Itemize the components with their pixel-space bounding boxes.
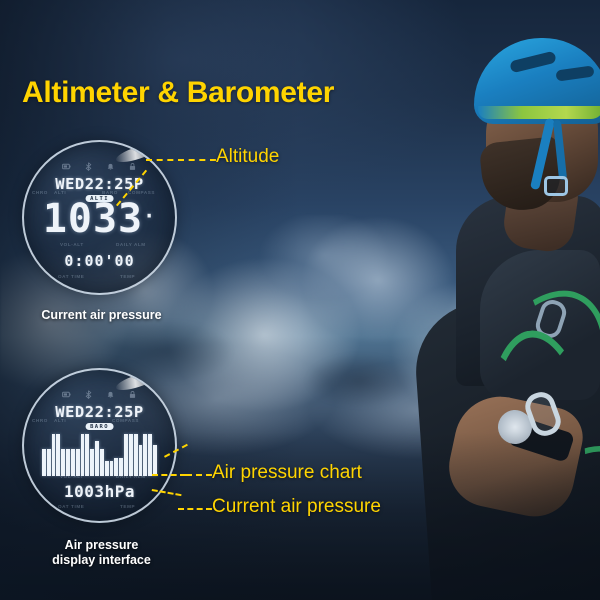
chronograph-value: 0:00'00 — [24, 252, 175, 270]
altimeter-lcd: CHRO ALTI BARO COMPASS VOL-ALT DAILY ALM… — [24, 142, 175, 293]
altitude-number: 1033 — [43, 196, 143, 242]
battery-icon — [62, 390, 71, 399]
chart-bar — [42, 449, 46, 476]
caption-air-pressure-display-interface: Air pressure display interface — [14, 538, 189, 569]
bezel-label-vol-alt: VOL-ALT — [60, 242, 84, 247]
status-icon-row — [24, 390, 175, 399]
chart-bar — [95, 441, 99, 476]
status-icon-row — [24, 162, 175, 171]
altimeter-watch[interactable]: CHRO ALTI BARO COMPASS VOL-ALT DAILY ALM… — [22, 140, 177, 295]
chart-bar — [47, 449, 51, 476]
chart-bar — [85, 434, 89, 476]
caption-line-1: Air pressure — [14, 538, 189, 553]
caption-current-air-pressure: Current air pressure — [14, 308, 189, 323]
lock-icon — [128, 390, 137, 399]
barometer-watch[interactable]: CHRO ALTI COMPASS VOL-ALT DAILY ALM OAT … — [22, 368, 177, 523]
chart-bar — [52, 434, 56, 476]
chart-bar — [143, 434, 147, 476]
current-air-pressure-value: 1003hPa — [24, 482, 175, 501]
chart-bar — [148, 434, 152, 476]
lock-icon — [128, 162, 137, 171]
chart-bar — [61, 449, 65, 476]
chart-bar — [90, 449, 94, 476]
chart-bar — [81, 434, 85, 476]
callout-air-pressure-chart: Air pressure chart — [212, 462, 362, 484]
watch-time-display: WED22:25P — [24, 403, 175, 421]
bezel-label-oat-time: OAT TIME — [58, 504, 84, 509]
caption-line-2: display interface — [14, 553, 189, 568]
air-pressure-bar-chart — [42, 432, 157, 476]
watch-time-display: WED22:25P — [24, 175, 175, 193]
page-title: Altimeter & Barometer — [22, 76, 334, 110]
bezel-label-temp: TEMP — [120, 274, 135, 279]
bezel-label-daily-alm: DAILY ALM — [116, 242, 146, 247]
callout-altitude: Altitude — [216, 146, 279, 168]
barometer-lcd: CHRO ALTI COMPASS VOL-ALT DAILY ALM OAT … — [24, 370, 175, 521]
bluetooth-icon — [84, 162, 93, 171]
chart-bar — [105, 461, 109, 476]
chart-bar — [119, 458, 123, 476]
battery-icon — [62, 162, 71, 171]
chart-bar — [129, 434, 133, 476]
callout-current-air-pressure: Current air pressure — [212, 496, 381, 518]
chart-bar — [139, 445, 143, 476]
chart-bar — [100, 449, 104, 476]
chart-bar — [134, 434, 138, 476]
alarm-icon — [106, 390, 115, 399]
mode-badge-baro: BARO — [85, 423, 114, 430]
chart-bar — [66, 449, 70, 476]
bezel-label-temp: TEMP — [120, 504, 135, 509]
bluetooth-icon — [84, 390, 93, 399]
chart-bar — [76, 449, 80, 476]
bezel-label-oat-time: OAT TIME — [58, 274, 84, 279]
chart-bar — [110, 461, 114, 476]
chart-bar — [56, 434, 60, 476]
chart-bar — [114, 458, 118, 476]
chart-bar — [71, 449, 75, 476]
altitude-value: 1033. — [24, 199, 175, 239]
alarm-icon — [106, 162, 115, 171]
altitude-decimal-dot: . — [143, 199, 156, 223]
promo-graphic: Altimeter & Barometer CHRO ALTI BARO COM… — [0, 0, 600, 600]
chart-bar — [124, 434, 128, 476]
chart-bar — [153, 445, 157, 476]
